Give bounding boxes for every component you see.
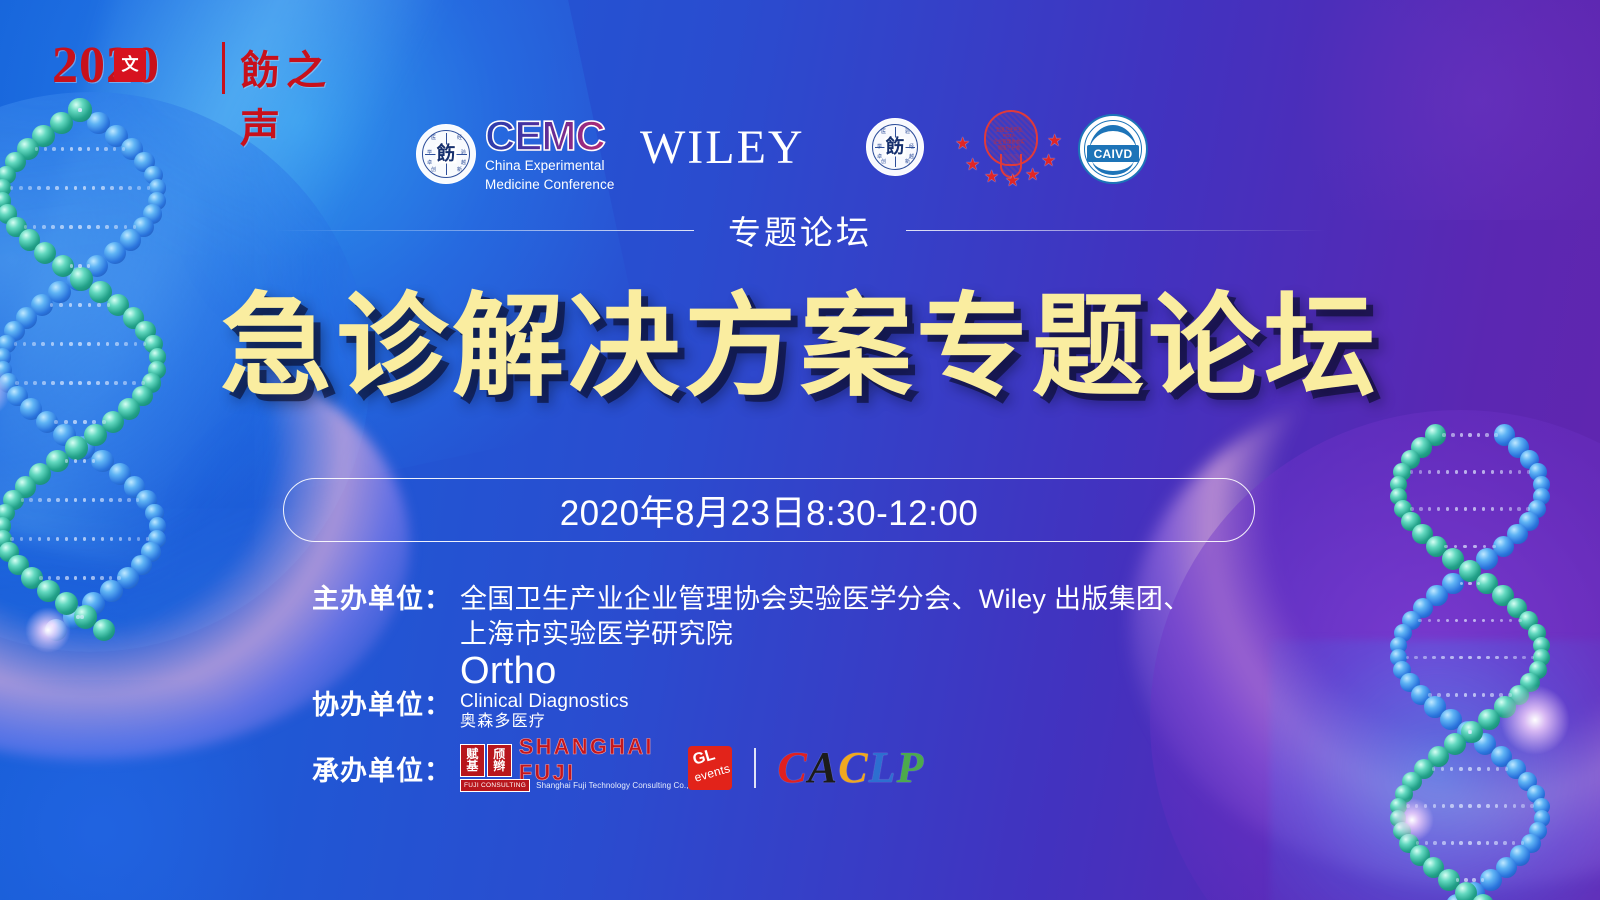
dna-rung-dot <box>1456 878 1460 882</box>
star-icon: ★ <box>965 156 980 173</box>
dna-rung-dot <box>1428 693 1432 697</box>
dna-bead <box>1413 598 1434 619</box>
dna-rung-dot <box>1446 470 1450 474</box>
fuji-char-2: 基 <box>466 760 478 772</box>
dna-rung-dot <box>1486 841 1490 845</box>
host-line-2: 上海市实验医学研究院 <box>460 617 1360 652</box>
dna-bead <box>1529 463 1547 481</box>
dna-rung-dot <box>1483 545 1487 549</box>
dna-rung-dot <box>47 537 51 541</box>
dna-rung-dot <box>1494 433 1498 437</box>
fuji-seal-block-2: 颀 辫 <box>487 744 512 777</box>
logo-cemc: 飭 医 经 学 验 卓 越 创 新 CEMC China Experimenta… <box>416 116 614 193</box>
dna-bead <box>1461 721 1483 743</box>
logo-seal-secondary: 飭 医 验 学 经 卓 越 创 新 <box>866 118 924 176</box>
dna-rung-dot <box>1499 693 1503 697</box>
sponsor-logo-strip: 赋 基 颀 辫 SHANGHAI FUJI FUJI CONSULTING S <box>460 744 1360 793</box>
ortho-logo: Ortho Clinical Diagnostics 奥森多医疗 <box>460 652 1360 730</box>
dna-rung-dot <box>1518 619 1522 623</box>
dna-bead <box>149 517 166 534</box>
cemc-wordmark: CEMC China Experimental Medicine Confere… <box>485 116 614 193</box>
sponsor-divider <box>754 748 756 788</box>
dna-rung-dot <box>1464 507 1468 511</box>
dna-rung-dot <box>1433 804 1437 808</box>
dna-rung-dot <box>1491 619 1495 623</box>
dna-bead <box>1394 624 1412 642</box>
dna-rung-dot <box>1531 656 1535 660</box>
dna-rung-dot <box>1481 878 1485 882</box>
dna-rung-dot <box>1518 470 1522 474</box>
dna-rung-dot <box>100 498 104 502</box>
dna-rung-dot <box>1437 693 1441 697</box>
organizer-body: 赋 基 颀 辫 SHANGHAI FUJI FUJI CONSULTING S <box>452 742 1360 793</box>
dna-rung-dot <box>1473 619 1477 623</box>
seal-mini-char: 创 <box>431 168 436 173</box>
ortho-chinese-name: 奥森多医疗 <box>460 714 1360 730</box>
section-subtitle-row: 专题论坛 <box>0 206 1600 254</box>
dna-rung-dot <box>1410 507 1414 511</box>
dna-bead <box>1520 673 1539 692</box>
dna-bead <box>1529 822 1547 840</box>
dna-rung-dot <box>83 498 87 502</box>
secondary-seal-icon: 飭 医 验 学 经 卓 越 创 新 <box>866 118 924 176</box>
dna-rung-dot <box>1468 767 1472 771</box>
dna-bead <box>141 542 160 561</box>
dna-bead <box>84 424 107 447</box>
dna-bead <box>36 411 59 434</box>
dna-rung-dot <box>1477 582 1481 586</box>
dna-rung-dot <box>1473 470 1477 474</box>
dna-rung-dot <box>101 537 105 541</box>
dna-rung-dot <box>65 537 69 541</box>
dna-rung-dot <box>1444 545 1448 549</box>
dna-bead <box>1478 709 1500 731</box>
dna-rung-dot <box>1415 804 1419 808</box>
coorganizer-label: 协办单位： <box>300 658 452 723</box>
dna-rung-dot <box>91 576 95 580</box>
dna-bead <box>1493 536 1514 557</box>
page-title: 急诊解决方案专题论坛 <box>0 288 1600 406</box>
dna-rung-dot <box>1503 841 1507 845</box>
dna-bead <box>1428 746 1449 767</box>
dna-rung-dot <box>1416 841 1420 845</box>
organizer-label: 承办单位： <box>300 742 452 789</box>
credit-row-organizer: 承办单位： 赋 基 颀 辫 <box>300 742 1360 793</box>
dna-bead <box>1494 696 1515 717</box>
caclp-letter: C <box>838 743 868 792</box>
dna-rung-dot <box>1472 878 1476 882</box>
credits-block: 主办单位： 全国卫生产业企业管理协会实验医学分会、Wiley 出版集团、 上海市… <box>300 582 1360 799</box>
dna-bead <box>1402 611 1421 630</box>
dna-rung-dot <box>1419 470 1423 474</box>
dna-rung-dot <box>1468 582 1472 586</box>
sparkle-icon <box>25 607 71 653</box>
dna-bead <box>91 450 114 473</box>
dna-rung-dot <box>1469 730 1473 734</box>
dna-bead <box>100 580 123 603</box>
dna-bead <box>1423 857 1444 878</box>
rule-left <box>274 230 694 231</box>
host-label: 主办单位： <box>300 582 452 617</box>
section-subtitle: 专题论坛 <box>728 206 872 254</box>
dna-bead <box>72 436 95 459</box>
dna-rung-dot <box>83 459 87 463</box>
dna-bead <box>55 592 78 615</box>
dna-rung-dot <box>102 420 106 424</box>
dna-rung-dot <box>1442 804 1446 808</box>
dna-rung-dot <box>87 264 91 268</box>
dna-bead <box>1455 882 1477 900</box>
year-divider <box>222 42 225 94</box>
cemc-subtitle-line1: China Experimental <box>485 157 614 174</box>
dna-bead <box>1425 424 1446 445</box>
dna-bead <box>136 490 156 510</box>
dna-bead <box>1520 450 1539 469</box>
dna-bead <box>1411 685 1431 705</box>
dna-bead <box>1399 834 1418 853</box>
dna-bead <box>1390 649 1407 666</box>
dna-bead <box>1534 810 1550 826</box>
seal-mini-char: 越 <box>461 161 466 166</box>
star-icon: ★ <box>1005 172 1020 189</box>
dna-rung-dot <box>1454 545 1458 549</box>
dna-bead <box>1438 869 1460 891</box>
dna-bead <box>145 504 164 523</box>
dna-bead <box>1402 772 1422 792</box>
dna-bead <box>1472 894 1494 900</box>
dna-rung-dot <box>1446 693 1450 697</box>
dna-rung-dot <box>1446 507 1450 511</box>
dna-bead <box>1533 798 1550 815</box>
fuji-consulting-tag: FUJI CONSULTING <box>460 779 530 792</box>
seal-mini-char: 创 <box>881 160 886 165</box>
dna-rung-dot <box>29 498 33 502</box>
dna-rung-dot <box>1428 619 1432 623</box>
dna-bead <box>1480 869 1502 891</box>
dna-rung-dot <box>1477 767 1481 771</box>
dna-rung-dot <box>1464 878 1468 882</box>
dna-rung-dot <box>1450 656 1454 660</box>
dna-rung-dot <box>1451 841 1455 845</box>
host-body: 全国卫生产业企业管理协会实验医学分会、Wiley 出版集团、 上海市实验医学研究… <box>452 582 1360 652</box>
dna-rung-dot <box>74 459 78 463</box>
dna-rung-dot <box>70 264 74 268</box>
dna-rung-dot <box>56 576 60 580</box>
dna-rung-dot <box>1504 656 1508 660</box>
logo-caclp: CACLP <box>778 746 925 790</box>
seal-mini-char: 经 <box>909 145 914 150</box>
dna-rung-dot <box>109 576 113 580</box>
dna-rung-dot <box>56 537 60 541</box>
dna-rung-dot <box>1464 619 1468 623</box>
dna-bead <box>1459 560 1481 582</box>
dna-rung-dot <box>1490 693 1494 697</box>
seal-mini-char: 医 <box>881 130 886 135</box>
seal-mini-char: 验 <box>461 151 466 156</box>
dna-rung-dot <box>1473 693 1477 697</box>
dna-rung-dot <box>1455 470 1459 474</box>
dna-bead <box>1528 500 1546 518</box>
dna-bead <box>1509 685 1529 705</box>
dna-rung-dot <box>1442 433 1446 437</box>
dna-rung-dot <box>1482 507 1486 511</box>
dna-rung-dot <box>38 498 42 502</box>
dna-bead <box>1401 450 1420 469</box>
dna-bead <box>3 490 23 510</box>
coorganizer-body: Ortho Clinical Diagnostics 奥森多医疗 <box>452 658 1360 730</box>
dna-rung-dot <box>1508 693 1512 697</box>
dna-rung-dot <box>1424 804 1428 808</box>
dna-rung-dot <box>1414 656 1418 660</box>
dna-rung-dot <box>1509 507 1513 511</box>
dna-rung-dot <box>1423 656 1427 660</box>
dna-bead <box>1410 845 1430 865</box>
dna-bead <box>1426 585 1447 606</box>
dna-bead <box>1390 798 1407 815</box>
caclp-letter: C <box>778 743 808 792</box>
dna-rung-dot <box>1463 545 1467 549</box>
dna-bead <box>1442 573 1464 595</box>
dna-rung-dot <box>1477 804 1481 808</box>
dna-bead <box>1401 512 1420 531</box>
dna-bead <box>1476 548 1498 570</box>
logo-pcta-stars: 全国卫生产业 PCTA 企业管理协会实验医学分会 ★ ★ ★ ★ ★ ★ ★ <box>955 110 1063 184</box>
dna-rung-dot <box>47 498 51 502</box>
dna-bead <box>65 436 88 459</box>
dna-bead <box>1390 810 1406 826</box>
dna-rung-dot <box>119 537 123 541</box>
dna-rung-dot <box>1494 841 1498 845</box>
seal-mini-char: 新 <box>457 168 462 173</box>
dna-bead <box>1507 598 1528 619</box>
year-seal-icon: 文 <box>114 48 146 82</box>
dna-rung-dot <box>1460 433 1464 437</box>
dna-bead <box>1510 845 1530 865</box>
host-line-1: 全国卫生产业企业管理协会实验医学分会、Wiley 出版集团、 <box>460 582 1360 617</box>
dna-rung-dot <box>1437 507 1441 511</box>
dna-bead <box>131 555 152 576</box>
dna-rung-dot <box>1455 693 1459 697</box>
dna-bead <box>1533 649 1550 666</box>
pcta-emblem-icon: 全国卫生产业 PCTA 企业管理协会实验医学分会 ★ ★ ★ ★ ★ ★ ★ <box>955 110 1063 184</box>
dna-rung-dot <box>1455 507 1459 511</box>
caclp-letter: P <box>896 743 924 792</box>
brand-char: 飭 <box>240 48 286 93</box>
dna-rung-dot <box>1522 656 1526 660</box>
dna-bead <box>46 450 69 473</box>
dna-rung-dot <box>110 537 114 541</box>
caivd-seal-icon: CAIVD <box>1078 114 1148 184</box>
cemc-acronym: CEMC <box>485 116 614 156</box>
dna-rung-dot <box>1441 767 1445 771</box>
dna-bead <box>1527 785 1545 803</box>
dna-bead <box>29 463 51 485</box>
dna-rung-dot <box>10 537 14 541</box>
sparkle-icon <box>1390 798 1434 842</box>
seal-mini-char: 医 <box>431 136 436 141</box>
dna-bead <box>8 555 29 576</box>
dna-rung-dot <box>1513 804 1517 808</box>
dna-rung-dot <box>1486 804 1490 808</box>
dna-rung-dot <box>1468 730 1472 734</box>
dna-rung-dot <box>1428 470 1432 474</box>
dna-rung-dot <box>1526 507 1530 511</box>
dna-bead <box>1533 637 1550 654</box>
dna-bead <box>0 517 11 534</box>
dna-rung-dot <box>65 576 69 580</box>
dna-bead <box>1508 437 1528 457</box>
dna-rung-dot <box>1432 767 1436 771</box>
cemc-seal-center-char: 飭 <box>435 145 456 164</box>
dna-rung-dot <box>1410 470 1414 474</box>
dna-rung-dot <box>74 576 78 580</box>
partner-logo-row: 飭 医 经 学 验 卓 越 创 新 CEMC China Experimenta… <box>0 104 1600 192</box>
dna-rung-dot <box>1455 619 1459 623</box>
dna-rung-dot <box>48 576 52 580</box>
dna-rung-dot <box>1419 507 1423 511</box>
dna-bead <box>1400 673 1419 692</box>
dna-rung-dot <box>1442 841 1446 845</box>
logo-caivd: CAIVD <box>1078 114 1148 184</box>
dna-bead <box>1393 822 1411 840</box>
dna-bead <box>1528 624 1546 642</box>
logo-gl-events: GL events <box>688 746 732 790</box>
dna-bead <box>1529 661 1547 679</box>
rule-right <box>906 230 1326 231</box>
credit-row-coorganizer: 协办单位： Ortho Clinical Diagnostics 奥森多医疗 <box>300 658 1360 730</box>
dna-rung-dot <box>21 498 25 502</box>
dna-rung-dot <box>1521 804 1525 808</box>
dna-rung-dot <box>65 459 69 463</box>
dna-bead <box>1411 437 1431 457</box>
dna-rung-dot <box>1446 619 1450 623</box>
dna-bead <box>1533 476 1550 493</box>
dna-rung-dot <box>1464 470 1468 474</box>
dna-rung-dot <box>146 537 150 541</box>
dna-rung-dot <box>1473 545 1477 549</box>
dna-rung-dot <box>1459 841 1463 845</box>
dna-rung-dot <box>1527 470 1531 474</box>
dna-rung-dot <box>92 420 96 424</box>
dna-rung-dot <box>39 576 43 580</box>
dna-bead <box>1492 585 1513 606</box>
star-icon: ★ <box>1025 166 1040 183</box>
dna-rung-dot <box>76 615 80 619</box>
dna-rung-dot <box>56 498 60 502</box>
poster-canvas: 2020 文 飭之声 飭 医 经 学 验 卓 越 创 新 <box>0 0 1600 900</box>
dna-rung-dot <box>117 576 121 580</box>
dna-rung-dot <box>80 615 84 619</box>
dna-rung-dot <box>83 537 87 541</box>
ortho-wordmark: Ortho <box>460 652 1360 691</box>
credit-row-host: 主办单位： 全国卫生产业企业管理协会实验医学分会、Wiley 出版集团、 上海市… <box>300 582 1360 652</box>
dna-bead <box>1474 733 1496 755</box>
dna-rung-dot <box>1441 656 1445 660</box>
seal-mini-char: 学 <box>427 151 432 156</box>
dna-bead <box>1519 611 1538 630</box>
dna-bead <box>86 255 109 278</box>
dna-rung-dot <box>92 498 96 502</box>
logo-shanghai-fuji: 赋 基 颀 辫 SHANGHAI FUJI FUJI CONSULTING S <box>460 744 666 793</box>
star-icon: ★ <box>984 168 999 185</box>
pcta-line3: 企业管理协会实验医学分会 <box>993 139 1025 151</box>
dna-bead <box>15 476 36 497</box>
dna-bead <box>52 255 75 278</box>
dna-rung-dot <box>1505 767 1509 771</box>
dna-rung-dot <box>65 498 69 502</box>
dna-bead <box>1412 524 1432 544</box>
dna-rung-dot <box>92 459 96 463</box>
dna-bead <box>1533 488 1550 505</box>
dna-bead <box>1390 637 1407 654</box>
dna-bead <box>1390 488 1407 505</box>
seal-mini-char: 新 <box>905 160 910 165</box>
dna-bead <box>1494 424 1515 445</box>
dna-rung-dot <box>1504 804 1508 808</box>
dna-rung-dot <box>1418 619 1422 623</box>
dna-bead <box>1506 759 1527 780</box>
dna-rung-dot <box>1406 804 1410 808</box>
dna-rung-dot <box>1468 804 1472 808</box>
dna-rung-dot <box>1500 619 1504 623</box>
seal-mini-char: 经 <box>457 136 462 141</box>
logo-wiley: WILEY <box>640 124 805 172</box>
dna-rung-dot <box>78 264 82 268</box>
dna-bead <box>1393 463 1411 481</box>
dna-bead <box>102 411 125 434</box>
dna-rung-dot <box>1477 656 1481 660</box>
fuji-wordmark: SHANGHAI FUJI <box>519 744 666 777</box>
dna-rung-dot <box>1459 804 1463 808</box>
dna-rung-dot <box>1428 507 1432 511</box>
event-datetime: 2020年8月23日8:30-12:00 <box>560 485 979 536</box>
dna-bead <box>1496 857 1517 878</box>
dna-rung-dot <box>1450 767 1454 771</box>
dna-bead <box>1518 772 1538 792</box>
wiley-wordmark: WILEY <box>640 124 805 172</box>
dna-rung-dot <box>100 576 104 580</box>
dna-rung-dot <box>1451 433 1455 437</box>
dna-rung-dot <box>1500 507 1504 511</box>
dna-bead <box>1393 661 1411 679</box>
dna-rung-dot <box>83 576 87 580</box>
dna-rung-dot <box>1477 841 1481 845</box>
fuji-english-name: Shanghai Fuji Technology Consulting Co.,… <box>536 781 704 790</box>
dna-bead <box>1463 882 1485 900</box>
bottom-left-glow <box>0 680 310 900</box>
dna-rung-dot <box>1425 841 1429 845</box>
seal-mini-char: 学 <box>877 145 882 150</box>
caclp-letter: A <box>808 743 838 792</box>
dna-bead <box>1519 512 1538 531</box>
dna-bead <box>1395 785 1413 803</box>
dna-bead <box>1440 709 1462 731</box>
dna-bead <box>1444 733 1466 755</box>
dna-bead <box>1414 759 1435 780</box>
dna-rung-dot <box>54 420 58 424</box>
year-brand-logo: 2020 文 飭之声 <box>52 36 352 100</box>
dna-rung-dot <box>29 537 33 541</box>
caclp-letter: L <box>869 743 897 792</box>
dna-bead <box>21 567 43 589</box>
dna-bead <box>1446 894 1468 900</box>
dna-bead <box>148 530 166 548</box>
dna-bead <box>1476 573 1498 595</box>
dna-rung-dot <box>1459 767 1463 771</box>
dna-bead <box>1390 476 1407 493</box>
dna-bead <box>74 605 97 628</box>
dna-bead <box>0 530 12 548</box>
